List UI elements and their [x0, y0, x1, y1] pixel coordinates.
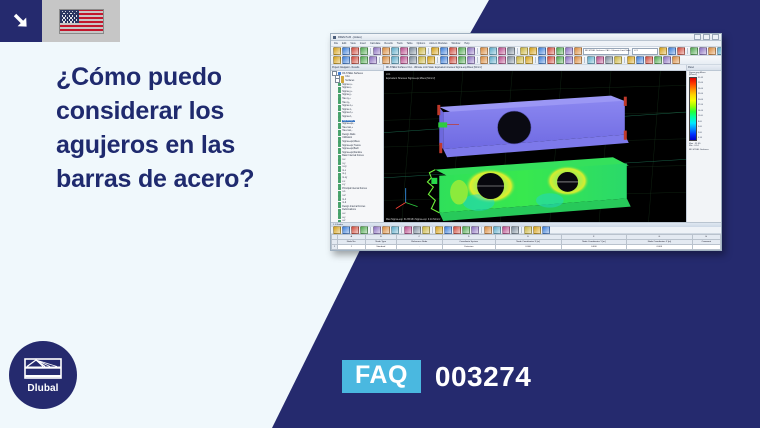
toolbar-icon[interactable] [574, 47, 582, 55]
dlubal-logo[interactable]: Dlubal [9, 341, 77, 409]
menu-item-options[interactable]: Options [417, 42, 426, 45]
toolbar-icon[interactable] [409, 56, 417, 64]
toolbar-icon[interactable] [431, 47, 439, 55]
navigator-tree[interactable]: RF-STEEL SurfacesCA1SurfacesSigma-x,+Sig… [331, 71, 383, 222]
tree-item-label: Design Internal Forces [342, 206, 365, 208]
toolbar-icon[interactable] [458, 47, 466, 55]
tree-item-label: Sigma-2,+ [342, 112, 353, 114]
toolbar-icon[interactable] [435, 226, 443, 234]
toolbar-icon[interactable] [480, 56, 488, 64]
title-line-2: considerar los [56, 94, 326, 128]
tree-item-label: u-z [342, 220, 345, 222]
results-legend-panel[interactable]: Panel Sigma-eqv,Mises [N/mm²] 31.6529.00… [686, 65, 721, 222]
tree-item-label: Sigma-eqv,Mises [342, 141, 359, 143]
app-body: Project Navigator - Results RF-STEEL Sur… [331, 65, 721, 222]
toolbar-icon[interactable] [471, 226, 479, 234]
toolbar-separator [517, 48, 518, 54]
tree-item-label: m-xy [342, 177, 347, 179]
tree-item-icon [338, 187, 341, 190]
legend-tick: 23.00 [698, 93, 703, 95]
toolbar-icon[interactable] [529, 47, 537, 55]
menu-item-view[interactable]: View [350, 42, 355, 45]
toolbar-icon[interactable] [636, 56, 644, 64]
tree-item-label: Tau-xy,+ [342, 98, 351, 100]
toolbar-separator [687, 48, 688, 54]
toolbar-icon[interactable] [533, 226, 541, 234]
tree-item-label: m-y [342, 173, 346, 175]
table-cell[interactable]: Cartesian [442, 250, 495, 252]
tree-item-label: Sigma-x,- [342, 87, 352, 89]
flag-graphic [59, 9, 104, 34]
legend-tick-labels: 31.6529.0026.0023.0020.0017.0014.0011.00… [698, 77, 703, 139]
table-panel: 1.1 Nodes ABCDEFGH Node No.Node TypeRefe… [331, 222, 721, 251]
tree-item[interactable]: u-z [332, 219, 383, 222]
toolbar-icon[interactable] [699, 47, 707, 55]
tree-item-label: Sigma-y,- [342, 94, 352, 96]
bridge-truss-icon [24, 357, 62, 381]
tree-item-label: Sigma-eqv,Rankine [342, 152, 362, 154]
toolbar-icon[interactable] [547, 56, 555, 64]
toolbar-icon[interactable] [645, 56, 653, 64]
legend-min: Min : 0.14 [689, 145, 719, 147]
legend-footer: RF-STEEL Surfaces [689, 149, 719, 151]
table-cell[interactable]: - [396, 250, 442, 252]
toolbar-icon[interactable] [654, 56, 662, 64]
toolbar-icon[interactable] [596, 56, 604, 64]
toolbar-icon[interactable] [542, 226, 550, 234]
menu-item-edit[interactable]: Edit [342, 42, 346, 45]
poster-canvas: ¿Cómo puedo considerar los agujeros en l… [0, 0, 760, 428]
view-overlay-lc: LC1 [386, 73, 390, 76]
tree-item-label: u-x [342, 213, 345, 215]
tree-item-icon [338, 180, 341, 183]
close-button[interactable] [712, 34, 719, 40]
toolbar-icon[interactable] [507, 56, 515, 64]
faq-block: FAQ 003274 [342, 360, 531, 393]
tree-item-icon [338, 220, 341, 222]
tree-item-icon [338, 205, 341, 208]
tree-item-icon [338, 162, 341, 165]
toolbar-icon[interactable] [556, 56, 564, 64]
menu-item-addons[interactable]: Add-on Modules [429, 42, 447, 45]
legend-body: Sigma-eqv,Mises [N/mm²] 31.6529.0026.002… [687, 71, 721, 222]
tree-item-icon [338, 83, 341, 86]
toolbar-icon[interactable] [565, 47, 573, 55]
toolbar-icon[interactable] [458, 56, 466, 64]
toolbar-icon[interactable] [574, 56, 582, 64]
toolbar-icon[interactable] [717, 47, 721, 55]
toolbar-icon[interactable] [333, 226, 341, 234]
toolbar-icon[interactable] [524, 226, 532, 234]
faq-number: 003274 [435, 363, 531, 391]
toolbar-icon[interactable] [342, 56, 350, 64]
load-case-combo[interactable]: LC1 [632, 48, 658, 55]
toolbar-icon[interactable] [391, 226, 399, 234]
tree-item-label: Sigma-y,+ [342, 91, 352, 93]
toolbar-icon[interactable] [605, 56, 613, 64]
title-line-3: agujeros en las [56, 128, 326, 162]
legend-tick: 17.00 [698, 104, 703, 106]
tree-item-label: Basic Internal Forces [342, 155, 364, 157]
tree-item-icon [338, 108, 341, 111]
tree-item-label: m-1 [342, 199, 346, 201]
flag-canton [60, 10, 79, 24]
arrow-down-right-icon[interactable] [0, 0, 42, 42]
legend-scale: 31.6529.0026.0023.0020.0017.0014.0011.00… [689, 77, 719, 141]
table-toolbar[interactable] [331, 227, 721, 234]
tree-item-label: v-x [342, 181, 345, 183]
project-navigator[interactable]: Project Navigator - Results RF-STEEL Sur… [331, 65, 384, 222]
menu-item-table[interactable]: Table [407, 42, 413, 45]
legend-tick: 26.00 [698, 88, 703, 90]
toolbar-icon[interactable] [418, 56, 426, 64]
tree-item-label: Sigma-1,- [342, 109, 352, 111]
logo-text: Dlubal [27, 383, 58, 394]
title-line-4: barras de acero? [56, 162, 326, 196]
toolbar-icon[interactable] [708, 47, 716, 55]
toolbar-icon[interactable] [369, 56, 377, 64]
toolbar-icon[interactable] [382, 226, 390, 234]
toolbar-icon[interactable] [440, 56, 448, 64]
legend-color-bar [689, 77, 697, 141]
tree-item-label: Utilization [342, 137, 352, 139]
toolbar-icon[interactable] [333, 56, 341, 64]
page-title: ¿Cómo puedo considerar los agujeros en l… [56, 60, 326, 196]
toolbar-icon[interactable] [547, 47, 555, 55]
tree-item-icon [338, 101, 341, 104]
view-status-line: Max Sigma-eqv: 31.65 Min Sigma-eqv: 0.14… [386, 218, 440, 221]
menu-item-window[interactable]: Window [451, 42, 460, 45]
toolbar-icon[interactable] [404, 226, 412, 234]
toolbar-separator [370, 227, 371, 233]
tree-item-label: Sigma-eqv,Bach [342, 148, 359, 150]
result-case-combo[interactable]: RF-STEEL Surfaces CA1 - Ultimate Limit S… [583, 48, 629, 55]
menu-item-help[interactable]: Help [464, 42, 469, 45]
legend-tick: 11.00 [698, 115, 703, 117]
legend-tick: 29.00 [698, 82, 703, 84]
toolbar-icon[interactable] [351, 56, 359, 64]
viewport-3d[interactable]: LC1 Equivalent Stresses Sigma-eqv,Mises … [384, 71, 686, 222]
toolbar-icon[interactable] [614, 56, 622, 64]
window-controls[interactable] [694, 34, 719, 40]
toolbar-icon[interactable] [444, 226, 452, 234]
toolbar-icon[interactable] [409, 47, 417, 55]
toolbar-primary[interactable]: RF-STEEL Surfaces CA1 - Ultimate Limit S… [331, 47, 721, 56]
toolbar-icon[interactable] [493, 226, 501, 234]
toolbar-icon[interactable] [516, 56, 524, 64]
tree-item-icon [338, 90, 341, 93]
tree-item-label: n-y [342, 163, 345, 165]
toolbar-icon[interactable] [449, 47, 457, 55]
tree-item-label: Tau-max,+ [342, 127, 353, 129]
toolbar-separator [481, 227, 482, 233]
toolbar-icon[interactable] [677, 47, 685, 55]
application-screenshot: RFEM 5.26 - [Holes] File Edit View Inser… [330, 33, 722, 251]
tree-item-icon [338, 126, 341, 129]
toolbar-icon[interactable] [538, 47, 546, 55]
toolbar-icon[interactable] [672, 56, 680, 64]
tree-item-label: Tau-xy,- [342, 102, 350, 104]
toolbar-icon[interactable] [360, 47, 368, 55]
tree-item-label: Sigma-eqv,+ [342, 120, 355, 122]
toolbar-secondary[interactable] [331, 56, 721, 65]
toolbar-separator [477, 48, 478, 54]
maximize-button[interactable] [703, 34, 710, 40]
nodes-table[interactable]: ABCDEFGH Node No.Node TypeReference Node… [331, 234, 721, 251]
tree-item-icon [338, 216, 341, 219]
toolbar-icon[interactable] [342, 47, 350, 55]
toolbar-icon[interactable] [391, 56, 399, 64]
tree-item-icon [338, 119, 341, 122]
menu-item-insert[interactable]: Insert [360, 42, 366, 45]
toolbar-icon[interactable] [333, 47, 341, 55]
toolbar-icon[interactable] [391, 47, 399, 55]
legend-tick: 20.00 [698, 99, 703, 101]
toolbar-icon[interactable] [449, 56, 457, 64]
data-grid[interactable]: ABCDEFGH Node No.Node TypeReference Node… [331, 234, 721, 251]
toolbar-icon[interactable] [659, 47, 667, 55]
toolbar-icon[interactable] [556, 47, 564, 55]
tree-item-label: Deformations [342, 209, 356, 211]
toolbar-icon[interactable] [427, 56, 435, 64]
table-cell[interactable]: 0.000 [627, 250, 693, 252]
toolbar-icon[interactable] [480, 47, 488, 55]
legend-unit: [N/mm²] [689, 74, 719, 76]
toolbar-icon[interactable] [489, 56, 497, 64]
toolbar-icon[interactable] [507, 47, 515, 55]
tree-item-label: n-xy [342, 166, 346, 168]
toolbar-icon[interactable] [538, 56, 546, 64]
menu-item-results[interactable]: Results [384, 42, 392, 45]
toolbar-icon[interactable] [498, 47, 506, 55]
toolbar-icon[interactable] [382, 47, 390, 55]
tree-item-label: Surfaces [345, 80, 354, 82]
toolbar-icon[interactable] [627, 56, 635, 64]
tree-item-label: CA1 [345, 76, 349, 78]
tree-item-label: n-2 [342, 195, 345, 197]
toolbar-icon[interactable] [418, 47, 426, 55]
toolbar-icon[interactable] [502, 226, 510, 234]
toolbar-icon[interactable] [467, 47, 475, 55]
toolbar-separator [624, 57, 625, 63]
tree-item-label: Sigma-eqv,Tresca [342, 145, 360, 147]
table-row[interactable]: 22Standard-Cartesian2.0000.0000.000 [332, 250, 721, 252]
toolbar-icon[interactable] [360, 226, 368, 234]
legend-tick: 31.65 [698, 77, 703, 79]
table-cell[interactable]: Standard [365, 250, 396, 252]
toolbar-icon[interactable] [400, 56, 408, 64]
legend-tick: 8.00 [698, 121, 703, 123]
toolbar-icon[interactable] [440, 47, 448, 55]
toolbar-icon[interactable] [668, 47, 676, 55]
table-cell[interactable]: 2.000 [495, 250, 561, 252]
table-body[interactable]: 11Standard-Cartesian0.0000.0000.00022Sta… [332, 245, 721, 252]
tree-item-label: n-1 [342, 191, 345, 193]
tree-item-label: Sigma-1,+ [342, 105, 353, 107]
toolbar-icon[interactable] [342, 226, 350, 234]
tree-item-label: RF-STEEL Surfaces [342, 73, 363, 75]
window-titlebar: RFEM 5.26 - [Holes] [331, 34, 721, 41]
tree-item-label: n-x [342, 159, 345, 161]
toolbar-icon[interactable] [587, 56, 595, 64]
toolbar-separator [584, 57, 585, 63]
toolbar-icon[interactable] [400, 47, 408, 55]
toolbar-icon[interactable] [413, 226, 421, 234]
legend-tick: 0.14 [698, 137, 703, 139]
tree-item-label: u-y [342, 217, 345, 219]
table-cell[interactable] [692, 250, 720, 252]
toolbar-icon[interactable] [498, 56, 506, 64]
legend-tick: 5.00 [698, 126, 703, 128]
tree-item-icon [338, 144, 341, 147]
tree-item-label: Sigma-eqv,- [342, 123, 354, 125]
toolbar-icon[interactable] [360, 56, 368, 64]
view-container: RF-STEEL Surfaces CA1 - Ultimate Limit S… [384, 65, 686, 222]
toolbar-separator [521, 227, 522, 233]
language-bar [0, 0, 120, 42]
toolbar-separator [535, 57, 536, 63]
app-icon [333, 36, 336, 39]
toolbar-icon[interactable] [520, 47, 528, 55]
toolbar-icon[interactable] [663, 56, 671, 64]
view-overlay-quantity: Equivalent Stresses Sigma-eqv,Mises [N/m… [386, 77, 435, 80]
menu-item-tools[interactable]: Tools [397, 42, 403, 45]
window-title: RFEM 5.26 - [Holes] [338, 36, 362, 39]
toolbar-icon[interactable] [351, 47, 359, 55]
legend-tick: 14.00 [698, 110, 703, 112]
toolbar-icon[interactable] [351, 226, 359, 234]
tree-item-label: Sigma-2,- [342, 116, 352, 118]
toolbar-icon[interactable] [462, 226, 470, 234]
tree-item-label: m-x [342, 170, 346, 172]
toolbar-separator [428, 48, 429, 54]
toolbar-separator [437, 57, 438, 63]
tree-item-label: Design Ratio [342, 134, 355, 136]
toolbar-icon[interactable] [422, 226, 430, 234]
toolbar-icon[interactable] [373, 47, 381, 55]
title-line-1: ¿Cómo puedo [56, 60, 326, 94]
toolbar-separator [370, 48, 371, 54]
toolbar-icon[interactable] [484, 226, 492, 234]
toolbar-icon[interactable] [511, 226, 519, 234]
tree-item-label: m-2 [342, 202, 346, 204]
toolbar-icon[interactable] [453, 226, 461, 234]
toolbar-icon[interactable] [373, 226, 381, 234]
toolbar-separator [401, 227, 402, 233]
toolbar-icon[interactable] [467, 56, 475, 64]
table-cell[interactable]: 2 [338, 250, 366, 252]
toolbar-icon[interactable] [382, 56, 390, 64]
toolbar-icon[interactable] [489, 47, 497, 55]
toolbar-icon[interactable] [690, 47, 698, 55]
table-cell[interactable]: 0.000 [561, 250, 627, 252]
toolbar-icon[interactable] [525, 56, 533, 64]
faq-badge: FAQ [342, 360, 421, 393]
toolbar-separator [379, 57, 380, 63]
tree-item-label: Principal Internal Forces [342, 188, 367, 190]
toolbar-icon[interactable] [565, 56, 573, 64]
tree-item-icon [338, 169, 341, 172]
toolbar-separator [477, 57, 478, 63]
menu-item-file[interactable]: File [334, 42, 338, 45]
tree-item-icon [338, 198, 341, 201]
tree-item-icon [341, 79, 344, 82]
tree-item-label: Sigma-x,+ [342, 84, 352, 86]
tree-item-label: Tau-max,- [342, 130, 352, 132]
toolbar-separator [432, 227, 433, 233]
minimize-button[interactable] [694, 34, 701, 40]
menu-item-calculate[interactable]: Calculate [370, 42, 380, 45]
tree-item-label: v-y [342, 184, 345, 186]
legend-tick: 2.00 [698, 132, 703, 134]
us-flag-icon[interactable] [42, 0, 120, 42]
